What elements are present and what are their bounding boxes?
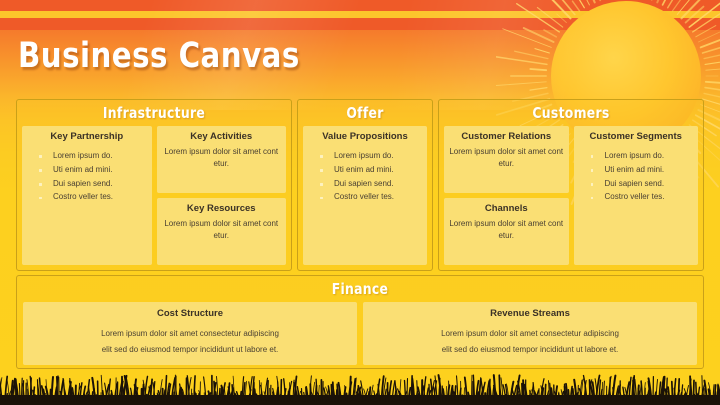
list-item: Lorem ipsum do. xyxy=(589,149,694,163)
section-customers: Customers Customer Relations Lorem ipsum… xyxy=(438,99,704,271)
card-title: Key Activities xyxy=(162,132,282,142)
section-infrastructure: Infrastructure Key Partnership Lorem ips… xyxy=(16,99,292,271)
card-body-line1: Lorem ipsum dolor sit amet consectetur a… xyxy=(441,326,619,342)
list-item: Dui sapien send. xyxy=(37,177,147,191)
card-key-resources[interactable]: Key Resources Lorem ipsum dolor sit amet… xyxy=(157,198,287,265)
card-title: Cost Structure xyxy=(157,309,223,319)
card-title: Key Resources xyxy=(162,204,282,214)
card-customer-segments[interactable]: Customer Segments Lorem ipsum do. Uti en… xyxy=(574,126,699,265)
list-item: Lorem ipsum do. xyxy=(37,149,147,163)
bullet-list: Lorem ipsum do. Uti enim ad mini. Dui sa… xyxy=(579,149,694,204)
card-body-line2: elit sed do eiusmod tempor incididunt ut… xyxy=(102,342,279,358)
list-item: Uti enim ad mini. xyxy=(37,163,147,177)
list-item: Costro veller tes. xyxy=(318,191,422,205)
card-revenue-streams[interactable]: Revenue Streams Lorem ipsum dolor sit am… xyxy=(363,302,697,365)
card-body-line2: elit sed do eiusmod tempor incididunt ut… xyxy=(442,342,619,358)
top-stripe-orange-lower xyxy=(0,18,720,30)
canvas-sections: Infrastructure Key Partnership Lorem ips… xyxy=(16,99,704,271)
card-body-line1: Lorem ipsum dolor sit amet consectetur a… xyxy=(101,326,279,342)
list-item: Dui sapien send. xyxy=(589,177,694,191)
card-body: Lorem ipsum dolor sit amet cont etur. xyxy=(162,146,282,170)
list-item: Uti enim ad mini. xyxy=(318,163,422,177)
top-stripe-yellow xyxy=(0,11,720,18)
card-key-partnership[interactable]: Key Partnership Lorem ipsum do. Uti enim… xyxy=(22,126,152,265)
card-body: Lorem ipsum dolor sit amet cont etur. xyxy=(449,218,564,242)
card-title: Value Propositions xyxy=(308,132,422,142)
section-title-finance: Finance xyxy=(47,279,673,302)
slide-canvas: Business Canvas Infrastructure Key Partn… xyxy=(0,0,720,405)
card-title: Key Partnership xyxy=(27,132,147,142)
bullet-list: Lorem ipsum do. Uti enim ad mini. Dui sa… xyxy=(27,149,147,204)
grass-silhouette-icon xyxy=(0,371,720,405)
card-title: Customer Segments xyxy=(579,132,694,142)
card-customer-relations[interactable]: Customer Relations Lorem ipsum dolor sit… xyxy=(444,126,569,193)
section-offer: Offer Value Propositions Lorem ipsum do.… xyxy=(297,99,433,271)
card-title: Customer Relations xyxy=(449,132,564,142)
card-body: Lorem ipsum dolor sit amet cont etur. xyxy=(449,146,564,170)
list-item: Lorem ipsum do. xyxy=(318,149,422,163)
card-title: Channels xyxy=(449,204,564,214)
card-key-activities[interactable]: Key Activities Lorem ipsum dolor sit ame… xyxy=(157,126,287,193)
bullet-list: Lorem ipsum do. Uti enim ad mini. Dui sa… xyxy=(308,149,422,204)
list-item: Uti enim ad mini. xyxy=(589,163,694,177)
card-value-propositions[interactable]: Value Propositions Lorem ipsum do. Uti e… xyxy=(303,126,427,265)
section-title-infrastructure: Infrastructure xyxy=(31,103,278,126)
section-finance: Finance Cost Structure Lorem ipsum dolor… xyxy=(16,275,704,369)
card-cost-structure[interactable]: Cost Structure Lorem ipsum dolor sit ame… xyxy=(23,302,357,365)
list-item: Costro veller tes. xyxy=(37,191,147,205)
card-channels[interactable]: Channels Lorem ipsum dolor sit amet cont… xyxy=(444,198,569,265)
top-stripe-orange-upper xyxy=(0,0,720,11)
list-item: Dui sapien send. xyxy=(318,177,422,191)
section-title-offer: Offer xyxy=(306,103,424,126)
list-item: Costro veller tes. xyxy=(589,191,694,205)
card-body: Lorem ipsum dolor sit amet cont etur. xyxy=(162,218,282,242)
card-title: Revenue Streams xyxy=(490,309,570,319)
page-title: Business Canvas xyxy=(18,36,300,76)
section-title-customers: Customers xyxy=(452,103,689,126)
